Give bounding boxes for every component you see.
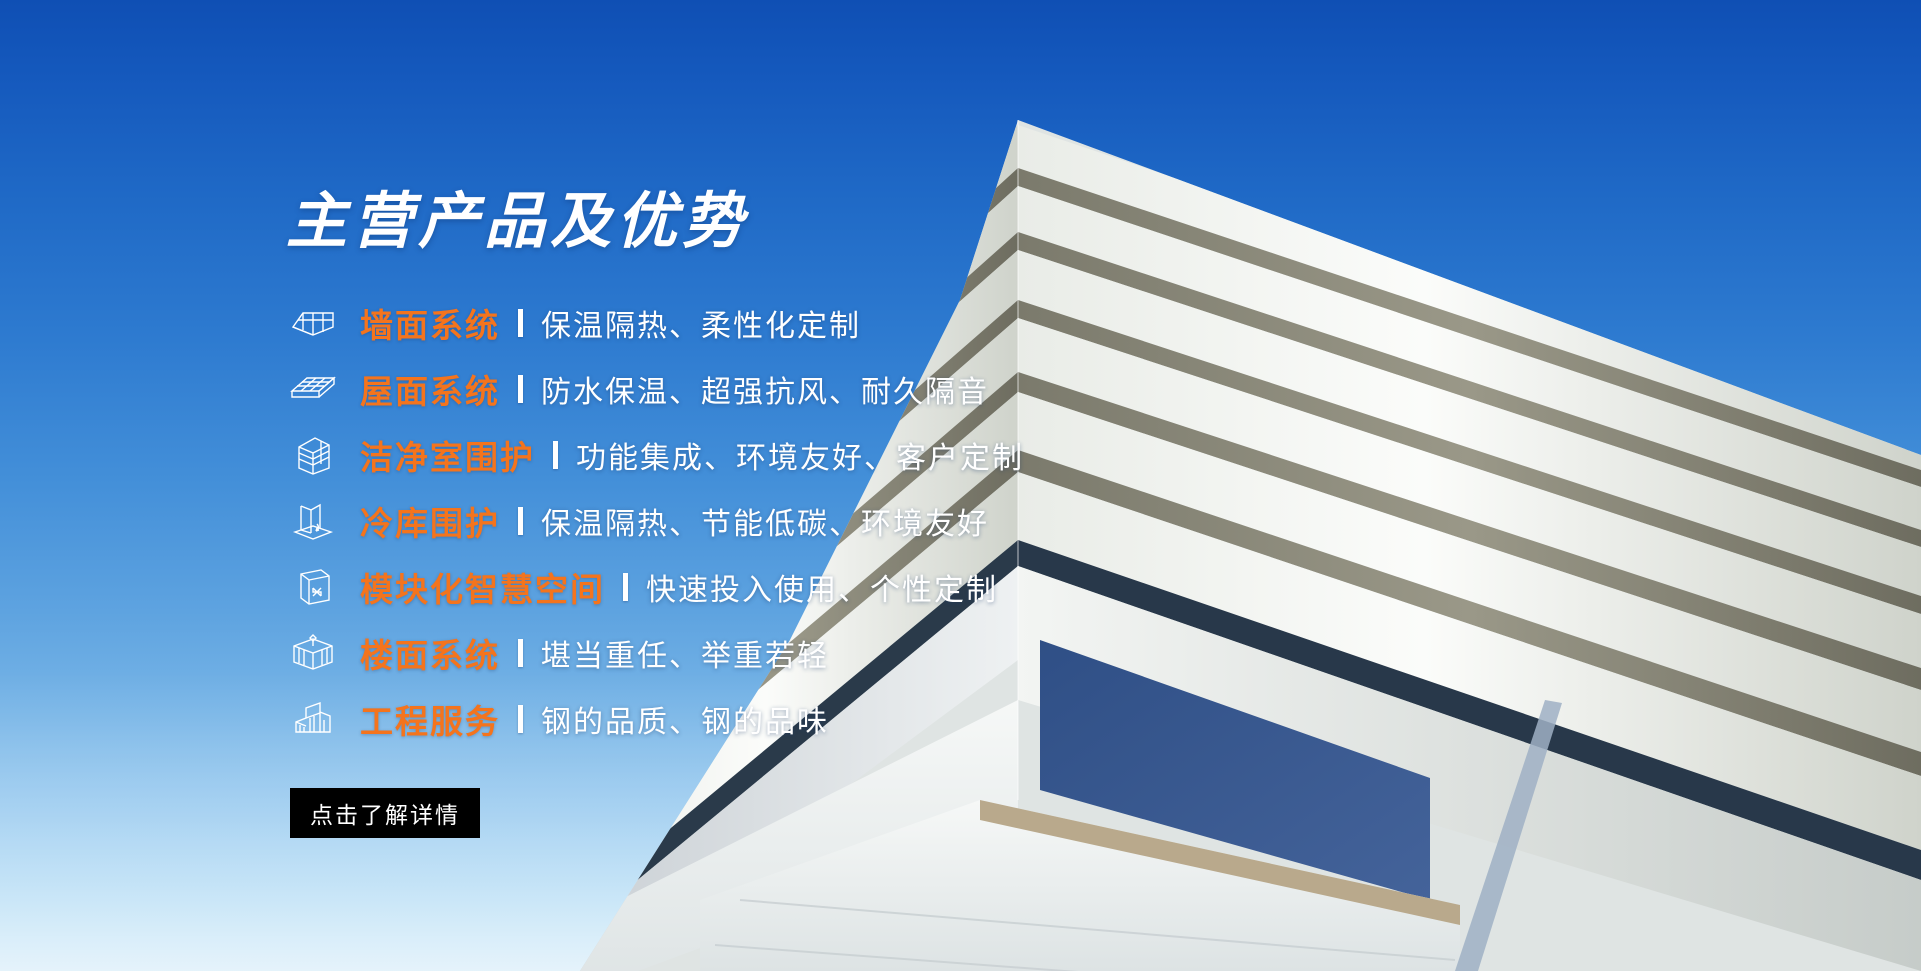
modular-cube-icon xyxy=(286,564,340,610)
separator-bar xyxy=(518,507,523,535)
page-title: 主营产品及优势 xyxy=(286,190,1386,254)
category-desc: 快速投入使用、个性定制 xyxy=(646,565,998,609)
list-item[interactable]: 冷库围护 保温隔热、节能低碳、环境友好 xyxy=(286,488,1386,554)
category-desc: 钢的品质、钢的品味 xyxy=(541,697,829,741)
list-item[interactable]: 楼面系统 堪当重任、举重若轻 xyxy=(286,620,1386,686)
cleanroom-icon xyxy=(286,432,340,478)
wall-panel-icon xyxy=(286,300,340,346)
floor-system-icon xyxy=(286,630,340,676)
separator-bar xyxy=(518,705,523,733)
engineering-icon xyxy=(286,696,340,742)
list-item[interactable]: 洁净室围护 功能集成、环境友好、客户定制 xyxy=(286,422,1386,488)
cold-storage-icon xyxy=(286,498,340,544)
category-label: 模块化智慧空间 xyxy=(360,563,605,611)
category-desc: 防水保温、超强抗风、耐久隔音 xyxy=(541,367,989,411)
category-desc: 保温隔热、柔性化定制 xyxy=(541,301,861,345)
list-item[interactable]: 墙面系统 保温隔热、柔性化定制 xyxy=(286,290,1386,356)
product-list: 墙面系统 保温隔热、柔性化定制 屋面系统 xyxy=(286,290,1386,752)
category-label: 洁净室围护 xyxy=(360,431,535,479)
banner-content: 主营产品及优势 墙面系统 保温隔热、柔性化定制 xyxy=(286,190,1386,838)
roof-slab-icon xyxy=(286,366,340,412)
separator-bar xyxy=(518,309,523,337)
list-item[interactable]: 工程服务 钢的品质、钢的品味 xyxy=(286,686,1386,752)
separator-bar xyxy=(518,375,523,403)
category-label: 墙面系统 xyxy=(360,299,500,347)
category-label: 楼面系统 xyxy=(360,629,500,677)
separator-bar xyxy=(623,573,628,601)
category-desc: 保温隔热、节能低碳、环境友好 xyxy=(541,499,989,543)
list-item[interactable]: 模块化智慧空间 快速投入使用、个性定制 xyxy=(286,554,1386,620)
separator-bar xyxy=(518,639,523,667)
category-desc: 功能集成、环境友好、客户定制 xyxy=(576,433,1024,477)
category-label: 屋面系统 xyxy=(360,365,500,413)
category-label: 冷库围护 xyxy=(360,497,500,545)
category-desc: 堪当重任、举重若轻 xyxy=(541,631,829,675)
product-advantage-banner: 主营产品及优势 墙面系统 保温隔热、柔性化定制 xyxy=(0,0,1921,971)
list-item[interactable]: 屋面系统 防水保温、超强抗风、耐久隔音 xyxy=(286,356,1386,422)
learn-more-button[interactable]: 点击了解详情 xyxy=(290,788,480,838)
category-label: 工程服务 xyxy=(360,695,500,743)
separator-bar xyxy=(553,441,558,469)
